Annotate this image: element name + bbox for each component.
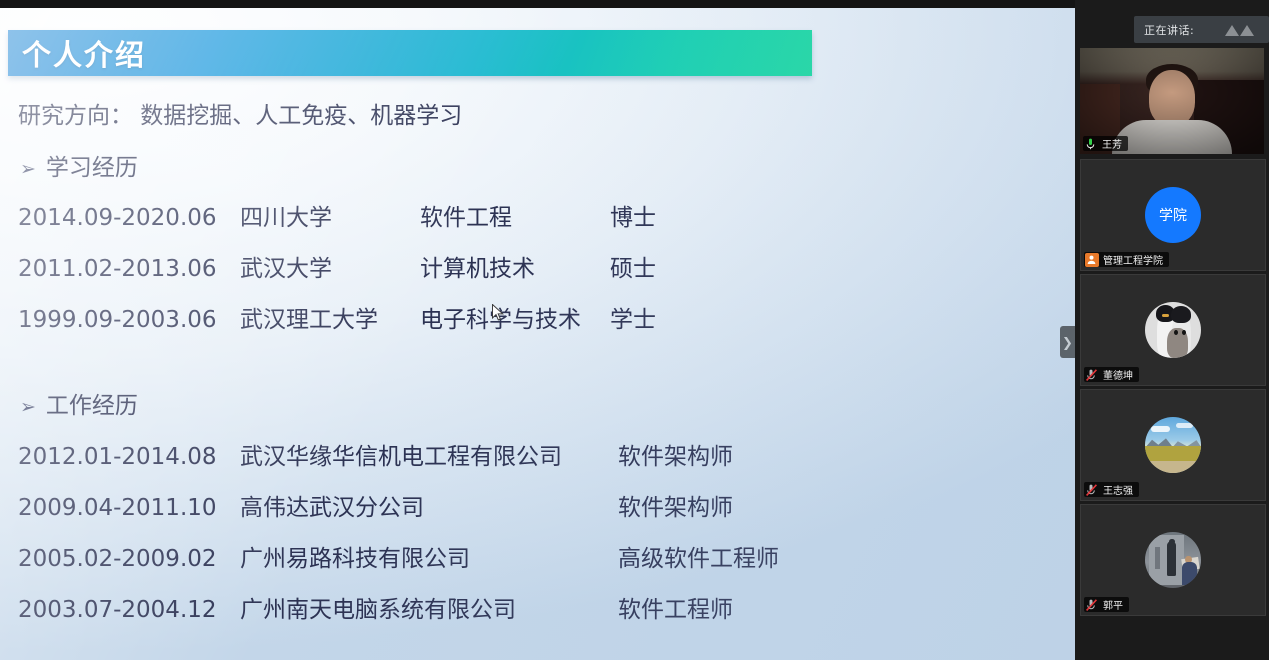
avatar (1145, 302, 1201, 358)
participant-name-badge: 董德坤 (1084, 367, 1139, 382)
table-row: 2003.07-2004.12 广州南天电脑系统有限公司 软件工程师 (18, 590, 733, 624)
avatar-initials: 学院 (1159, 205, 1187, 225)
participant-name: 郭平 (1103, 597, 1123, 612)
work-heading: ➢工作经历 (20, 386, 138, 420)
host-icon (1084, 252, 1099, 267)
app-logo-icon (1223, 23, 1257, 37)
avatar: 学院 (1145, 187, 1201, 243)
participant-tile[interactable]: 王志强 (1080, 389, 1266, 501)
work-role: 软件工程师 (618, 590, 733, 624)
table-row: 2014.09-2020.06 四川大学 软件工程 博士 (18, 198, 656, 232)
edu-major: 计算机技术 (420, 249, 610, 283)
chevron-right-icon: ❯ (1062, 336, 1073, 349)
edu-major: 软件工程 (420, 198, 610, 232)
bullet-arrow-icon: ➢ (20, 396, 36, 418)
work-org: 广州南天电脑系统有限公司 (240, 590, 618, 624)
edu-degree: 博士 (610, 198, 656, 232)
bullet-arrow-icon: ➢ (20, 158, 36, 180)
participant-name-badge: 管理工程学院 (1084, 252, 1169, 267)
edu-org: 武汉大学 (240, 249, 420, 283)
active-speaker-label: 正在讲话: (1144, 22, 1194, 38)
work-date: 2005.02-2009.02 (18, 546, 240, 572)
work-role: 软件架构师 (618, 437, 733, 471)
collapse-panel-handle[interactable]: ❯ (1060, 326, 1075, 358)
participant-name: 管理工程学院 (1103, 252, 1163, 267)
work-heading-label: 工作经历 (46, 393, 138, 419)
participant-tile[interactable]: 郭平 (1080, 504, 1266, 616)
microphone-muted-icon (1084, 482, 1099, 497)
edu-major: 电子科学与技术 (420, 300, 610, 334)
work-date: 2003.07-2004.12 (18, 597, 240, 623)
page-title: 个人介绍 (22, 32, 146, 74)
participant-tile[interactable]: 学院 管理工程学院 (1080, 159, 1266, 271)
table-row: 2012.01-2014.08 武汉华缘华信机电工程有限公司 软件架构师 (18, 437, 733, 471)
table-row: 2009.04-2011.10 高伟达武汉分公司 软件架构师 (18, 488, 733, 522)
edu-org: 武汉理工大学 (240, 300, 420, 334)
work-date: 2009.04-2011.10 (18, 495, 240, 521)
shared-presentation-slide: 个人介绍 研究方向： 数据挖掘、人工免疫、机器学习 ➢学习经历 2014.09-… (0, 8, 1075, 660)
research-directions-line: 研究方向： 数据挖掘、人工免疫、机器学习 (18, 96, 462, 130)
active-speaker-bar: 正在讲话: (1134, 16, 1269, 43)
slide-title-banner: 个人介绍 (8, 30, 812, 76)
edu-date: 2011.02-2013.06 (18, 256, 240, 282)
microphone-icon (1083, 136, 1098, 151)
participant-name: 董德坤 (1103, 367, 1133, 382)
participant-name-badge: 王志强 (1084, 482, 1139, 497)
edu-degree: 硕士 (610, 249, 656, 283)
avatar (1145, 417, 1201, 473)
avatar (1145, 532, 1201, 588)
participant-tile[interactable]: 董德坤 (1080, 274, 1266, 386)
window-top-strip (0, 0, 1075, 8)
edu-org: 四川大学 (240, 198, 420, 232)
table-row: 1999.09-2003.06 武汉理工大学 电子科学与技术 学士 (18, 300, 656, 334)
participant-name-badge: 郭平 (1084, 597, 1129, 612)
table-row: 2011.02-2013.06 武汉大学 计算机技术 硕士 (18, 249, 656, 283)
microphone-muted-icon (1084, 367, 1099, 382)
work-org: 武汉华缘华信机电工程有限公司 (240, 437, 618, 471)
work-org: 广州易路科技有限公司 (240, 539, 618, 573)
edu-date: 1999.09-2003.06 (18, 307, 240, 333)
participant-name: 王志强 (1103, 482, 1133, 497)
edu-date: 2014.09-2020.06 (18, 205, 240, 231)
education-heading: ➢学习经历 (20, 148, 138, 182)
work-date: 2012.01-2014.08 (18, 444, 240, 470)
work-role: 高级软件工程师 (618, 539, 779, 573)
participant-name-badge: 王芳 (1083, 136, 1128, 151)
video-participants-panel: 正在讲话: 王芳 学院 (1075, 0, 1269, 660)
participant-tile[interactable]: 王芳 (1080, 48, 1264, 154)
education-heading-label: 学习经历 (46, 155, 138, 181)
microphone-muted-icon (1084, 597, 1099, 612)
table-row: 2005.02-2009.02 广州易路科技有限公司 高级软件工程师 (18, 539, 779, 573)
participant-name: 王芳 (1102, 136, 1122, 151)
work-role: 软件架构师 (618, 488, 733, 522)
edu-degree: 学士 (610, 300, 656, 334)
work-org: 高伟达武汉分公司 (240, 488, 618, 522)
